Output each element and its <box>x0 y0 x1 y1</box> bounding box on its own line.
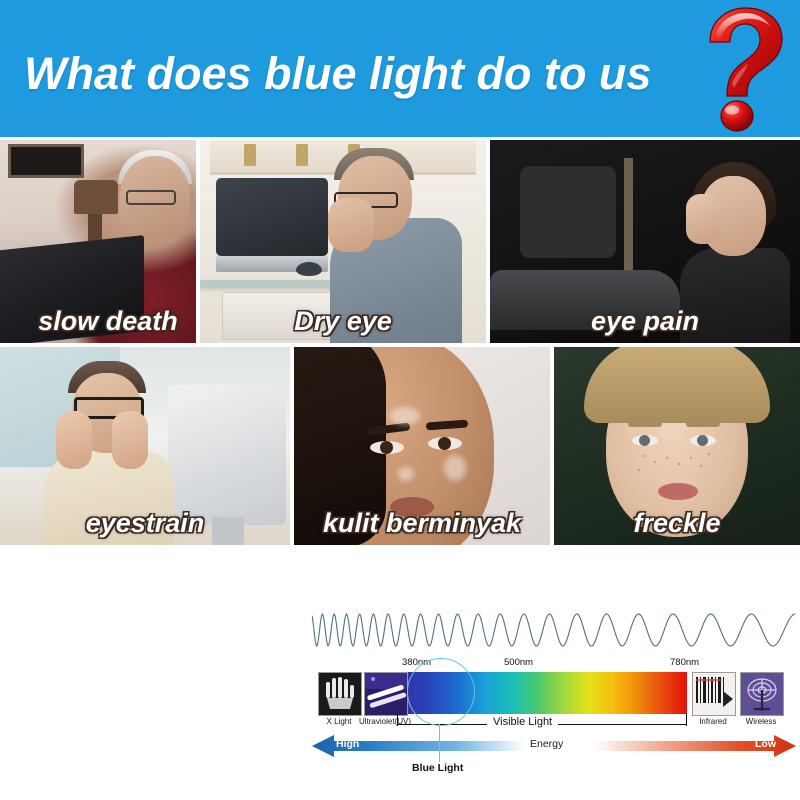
question-mark-icon <box>686 6 790 134</box>
header-banner: What does blue light do to us <box>0 0 800 137</box>
x-ray-thumbnail <box>318 672 362 716</box>
visible-light-label: Visible Light <box>487 716 558 728</box>
photo-dry-eye[interactable]: Dry eye <box>200 140 486 343</box>
infrared-thumbnail <box>692 672 736 716</box>
blue-light-leader-line <box>439 724 440 762</box>
photo-freckle[interactable]: freckle <box>554 347 800 545</box>
photo-image <box>294 347 550 545</box>
photo-image <box>490 140 800 343</box>
wavelength-label-780: 780nm <box>670 657 699 668</box>
spectrum-diagram: 380nm 500nm 780nm <box>312 606 796 778</box>
photo-image <box>0 140 196 343</box>
photo-image <box>0 347 290 545</box>
energy-high-label: High <box>336 738 359 750</box>
visible-light-tick-right <box>686 714 687 726</box>
band-label-infrared: Infrared <box>692 717 734 726</box>
visible-light-tick-left <box>397 714 398 726</box>
blue-light-highlight-circle <box>407 658 475 726</box>
wireless-thumbnail <box>740 672 784 716</box>
photo-slow-death[interactable]: slow death <box>0 140 196 343</box>
energy-low-label: Low <box>755 738 776 750</box>
photo-eye-pain[interactable]: eye pain <box>490 140 800 343</box>
band-label-wireless: Wireless <box>740 717 782 726</box>
energy-label: Energy <box>530 738 563 750</box>
photo-image <box>200 140 486 343</box>
photo-kulit-berminyak[interactable]: kulit berminyak <box>294 347 550 545</box>
photo-eyestrain[interactable]: eyestrain <box>0 347 290 545</box>
wavelength-label-500: 500nm <box>504 657 533 668</box>
wavelength-waveform <box>312 606 796 654</box>
photo-grid: slow death Dry eye eye pain ey <box>0 140 800 545</box>
blue-light-label: Blue Light <box>412 762 463 774</box>
ultraviolet-thumbnail <box>364 672 408 716</box>
photo-image <box>554 347 800 545</box>
page-title: What does blue light do to us <box>24 48 651 100</box>
